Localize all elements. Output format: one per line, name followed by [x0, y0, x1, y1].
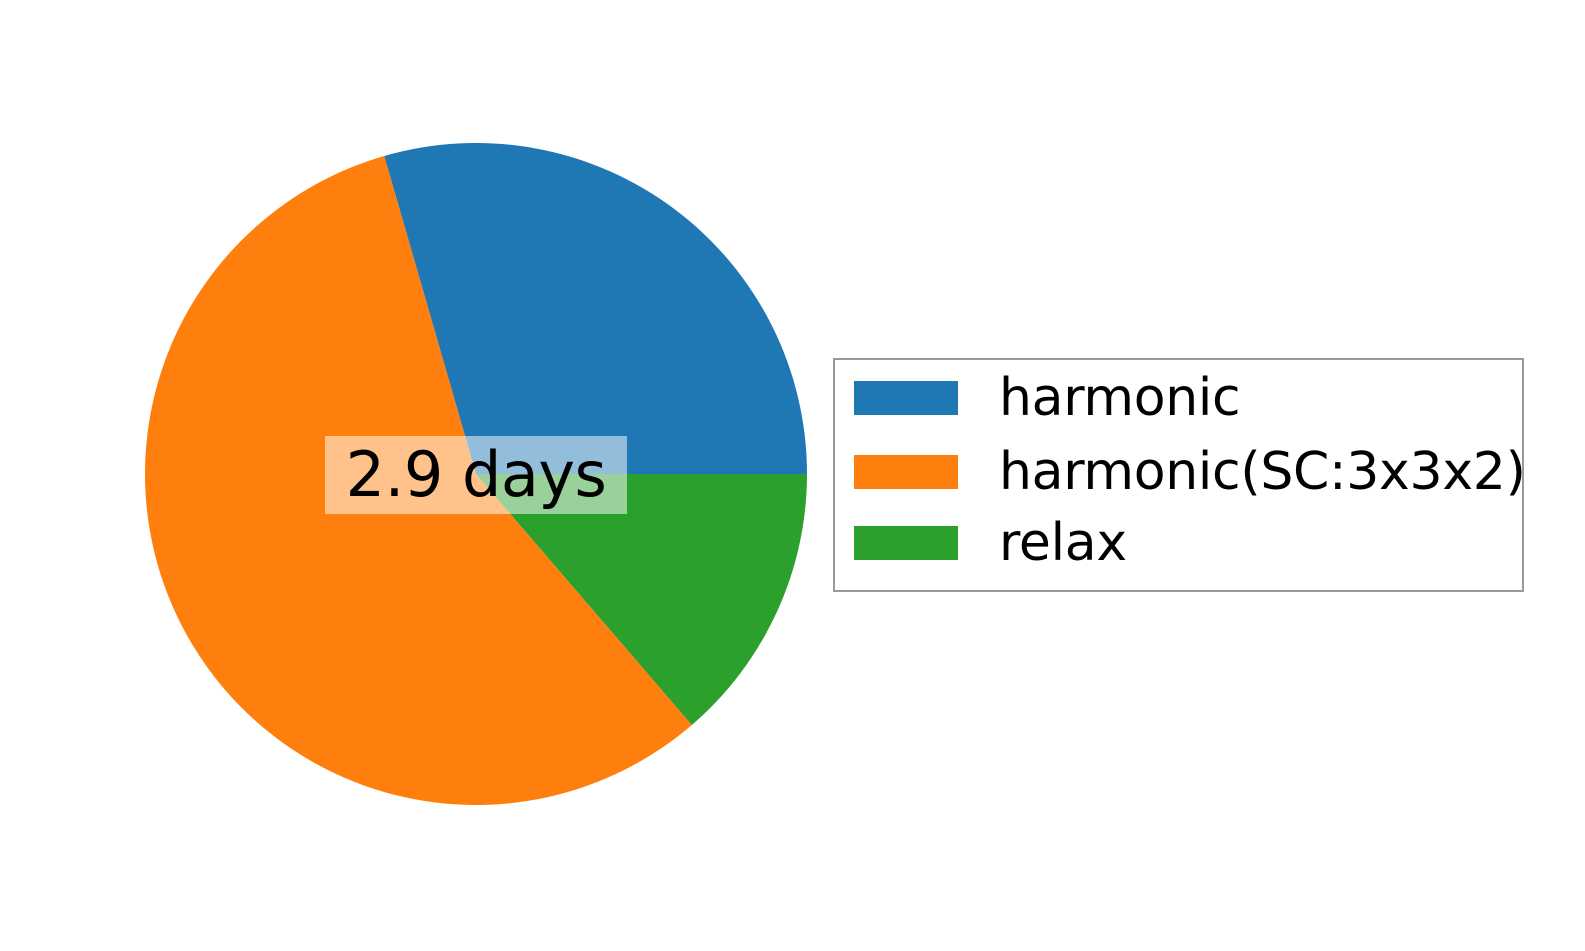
legend-entry-relax[interactable]: relax	[854, 526, 1127, 560]
legend-entry-harmonic[interactable]: harmonic	[854, 381, 1240, 415]
legend-entry-harmonic-sc[interactable]: harmonic(SC:3x3x2)	[854, 455, 1526, 489]
legend-swatch-harmonic	[854, 381, 958, 415]
pie-chart-figure: 2.9 days harmonic harmonic(SC:3x3x2) rel…	[0, 0, 1585, 951]
center-total-label-text: 2.9 days	[346, 444, 607, 506]
legend-swatch-harmonic-sc	[854, 455, 958, 489]
legend: harmonic harmonic(SC:3x3x2) relax	[833, 358, 1524, 592]
legend-label-harmonic: harmonic	[999, 372, 1240, 424]
legend-swatch-relax	[854, 526, 958, 560]
legend-label-relax: relax	[999, 517, 1127, 569]
legend-label-harmonic-sc: harmonic(SC:3x3x2)	[999, 446, 1526, 498]
center-total-label: 2.9 days	[325, 436, 627, 514]
